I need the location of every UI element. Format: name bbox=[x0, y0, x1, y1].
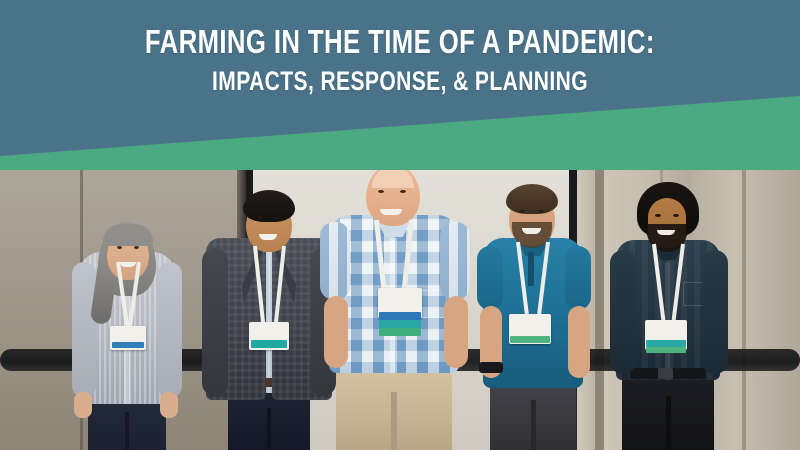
person-3-mouth bbox=[380, 209, 402, 215]
person-4-forearm-right bbox=[568, 306, 590, 378]
person-2-leg-gap bbox=[267, 408, 271, 450]
person-5-eye-left bbox=[655, 214, 661, 217]
person-1-hand-left bbox=[74, 392, 92, 418]
person-4-arm-left bbox=[477, 246, 503, 310]
person-4-leg-gap bbox=[531, 400, 536, 450]
person-2-arm-left bbox=[202, 248, 228, 396]
person-2-badge-ribbon bbox=[251, 340, 287, 348]
person-4-wristwatch bbox=[479, 362, 503, 373]
person-1-arm-left bbox=[72, 262, 96, 398]
person-4-eye-left bbox=[519, 210, 525, 213]
wall-panel-b bbox=[595, 150, 604, 450]
person-1-mouth bbox=[120, 262, 136, 267]
wall-panel-e bbox=[742, 150, 746, 450]
person-1-hand-right bbox=[160, 392, 178, 418]
person-3-eye-left bbox=[378, 190, 384, 193]
person-5-arm-right bbox=[702, 250, 728, 374]
person-3-forearm-left bbox=[324, 296, 348, 368]
promo-banner-image: FARMING IN THE TIME OF A PANDEMIC: IMPAC… bbox=[0, 0, 800, 450]
person-1-arm-right bbox=[158, 262, 182, 398]
person-5-belt-buckle bbox=[658, 368, 673, 379]
person-4-eye-right bbox=[538, 210, 544, 213]
person-1-eye-left bbox=[117, 246, 122, 249]
person-1-eye-right bbox=[134, 246, 139, 249]
person-3-badge-ribbon-3 bbox=[379, 328, 421, 336]
person-1-badge-ribbon bbox=[112, 342, 144, 348]
person-5-leg-gap bbox=[666, 396, 671, 450]
person-5-badge-ribbon-2 bbox=[646, 347, 686, 353]
person-2-hair bbox=[243, 190, 295, 222]
person-3-forearm-right bbox=[444, 296, 468, 368]
person-4-badge-ribbon bbox=[510, 336, 550, 343]
person-1-hair-front bbox=[103, 224, 153, 246]
person-1-leg-gap bbox=[125, 412, 129, 450]
person-4-hair bbox=[506, 184, 558, 214]
person-3-leg-gap bbox=[391, 392, 397, 450]
person-3-badge-ribbon-2 bbox=[379, 320, 421, 328]
person-4-mouth bbox=[522, 228, 541, 234]
person-4-polo-placket bbox=[528, 252, 534, 286]
person-3-eye-right bbox=[400, 190, 406, 193]
person-2-eye-left bbox=[257, 216, 263, 219]
person-5-mouth bbox=[657, 230, 675, 235]
person-2-eye-right bbox=[275, 216, 281, 219]
person-5-eye-right bbox=[673, 214, 679, 217]
person-3-arm-right bbox=[440, 222, 470, 300]
person-3-badge-ribbon-1 bbox=[379, 312, 421, 320]
person-4-arm-right bbox=[565, 246, 591, 310]
person-5-arm-left bbox=[610, 250, 636, 374]
person-3-arm-left bbox=[320, 222, 350, 300]
person-5-badge-ribbon-1 bbox=[646, 340, 686, 347]
